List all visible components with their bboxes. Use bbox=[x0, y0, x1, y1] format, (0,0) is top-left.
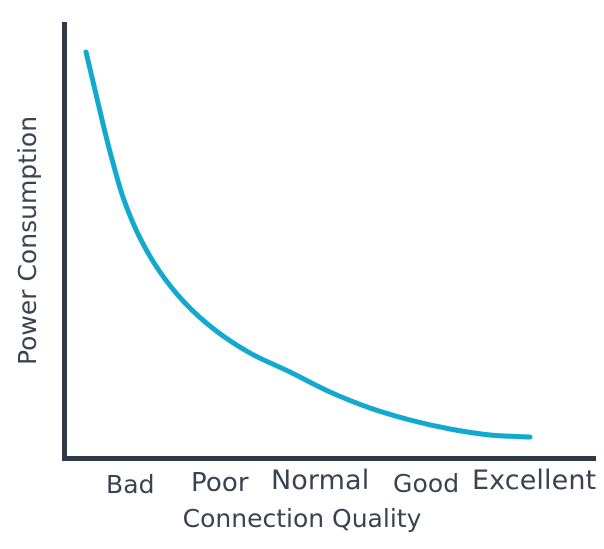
y-axis-title: Power Consumption bbox=[14, 115, 43, 364]
x-tick-label-bad: Bad bbox=[106, 470, 155, 499]
x-tick-label-normal: Normal bbox=[271, 465, 369, 496]
chart-container: Power Consumption Bad Poor Normal Good E… bbox=[0, 0, 604, 549]
x-tick-label-excellent: Excellent bbox=[472, 465, 596, 496]
x-axis-title: Connection Quality bbox=[0, 504, 604, 533]
y-axis-title-container: Power Consumption bbox=[0, 0, 56, 480]
x-tick-label-good: Good bbox=[393, 469, 459, 498]
x-tick-label-poor: Poor bbox=[191, 468, 249, 498]
